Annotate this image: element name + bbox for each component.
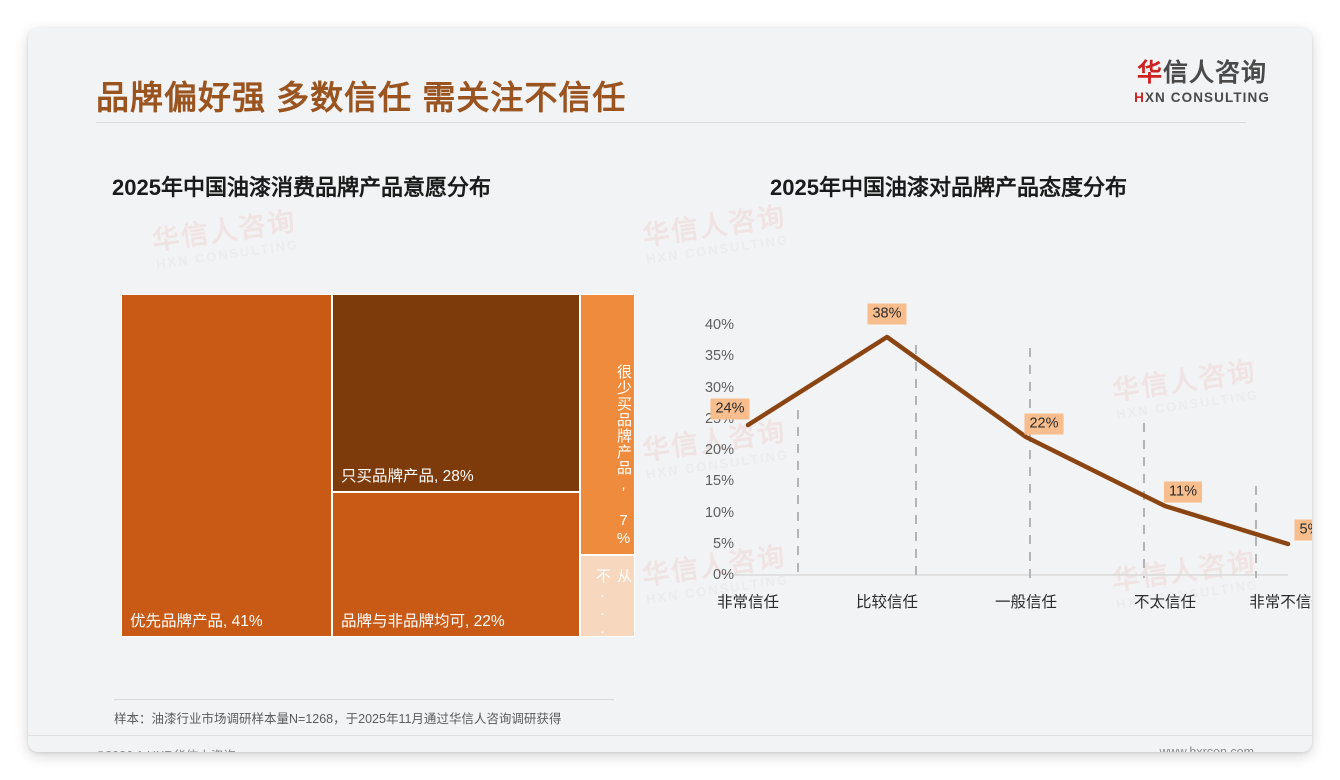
- watermark-cn: 华信人咨询: [151, 208, 298, 255]
- y-axis-tick-label: 5%: [713, 536, 734, 552]
- y-axis: 0%5%10%15%20%25%30%35%40%: [676, 290, 734, 620]
- treemap-label: 品牌与非品牌均可, 22%: [341, 609, 505, 631]
- data-point-label: 22%: [1024, 413, 1063, 434]
- watermark: 华信人咨询 HXN CONSULTING: [151, 208, 301, 271]
- logo-english-text: HXN CONSULTING: [1134, 91, 1270, 105]
- header-divider: [96, 122, 1246, 123]
- treemap-tile-either[interactable]: 品牌与非品牌均可, 22%: [332, 492, 580, 637]
- y-axis-tick-label: 15%: [705, 473, 734, 489]
- x-axis-tick-label: 非常信任: [717, 590, 779, 612]
- treemap-label: 很少买品牌产品, 7%: [581, 298, 634, 548]
- footnote-text: 样本：油漆行业市场调研样本量N=1268，于2025年11月通过华信人咨询调研获…: [114, 708, 561, 727]
- right-chart-title: 2025年中国油漆对品牌产品态度分布: [770, 170, 1127, 202]
- treemap-tile-only-brand[interactable]: 只买品牌产品, 28%: [332, 294, 580, 492]
- treemap-tile-priority-brand[interactable]: 优先品牌产品, 41%: [121, 294, 332, 637]
- x-axis-tick-label: 一般信任: [995, 590, 1057, 612]
- y-axis-tick-label: 35%: [705, 348, 734, 364]
- y-axis-tick-label: 30%: [705, 380, 734, 396]
- company-logo: 华信人咨询 HXN CONSULTING: [1134, 61, 1270, 105]
- logo-rest-chars: 信人咨询: [1163, 59, 1267, 87]
- logo-en-accent: H: [1134, 90, 1145, 105]
- treemap-chart: 优先品牌产品, 41% 只买品牌产品, 28% 品牌与非品牌均可, 22% 很少…: [121, 294, 635, 637]
- treemap-label: 优先品牌产品, 41%: [130, 609, 263, 631]
- y-axis-tick-label: 0%: [713, 567, 734, 583]
- left-chart-title: 2025年中国油漆消费品牌产品意愿分布: [112, 170, 491, 202]
- footer-divider: [28, 735, 1312, 736]
- logo-chinese-text: 华信人咨询: [1134, 61, 1270, 86]
- treemap-tile-never-brand[interactable]: 从不...: [580, 555, 635, 637]
- website-text: www.hxrcon.com: [1160, 745, 1254, 752]
- logo-en-rest: XN CONSULTING: [1145, 90, 1270, 105]
- treemap-label: 只买品牌产品, 28%: [341, 464, 474, 486]
- data-point-label: 11%: [1164, 482, 1202, 503]
- treemap-label: 从不...: [581, 568, 634, 628]
- y-axis-tick-label: 10%: [705, 505, 734, 521]
- logo-accent-char: 华: [1137, 59, 1163, 87]
- y-axis-tick-label: 20%: [705, 442, 734, 458]
- copyright-text: ©2026.1 HXR华信人咨询: [96, 745, 236, 752]
- data-point-label: 38%: [867, 303, 906, 324]
- attitude-line-series: [748, 337, 1288, 544]
- x-axis-tick-label: 比较信任: [856, 590, 918, 612]
- x-axis-tick-label: 非常不信任: [1249, 590, 1312, 612]
- line-chart: 0%5%10%15%20%25%30%35%40% 非常信任比较信任一般信任不太…: [676, 290, 1296, 620]
- watermark-en: HXN CONSULTING: [645, 233, 790, 266]
- slide-canvas: 华信人咨询 HXN CONSULTING 华信人咨询 HXN CONSULTIN…: [28, 28, 1312, 752]
- footnote-divider: [114, 699, 614, 700]
- watermark-cn: 华信人咨询: [641, 203, 788, 250]
- data-point-label: 5%: [1295, 519, 1312, 540]
- x-axis-tick-label: 不太信任: [1134, 590, 1196, 612]
- page-title: 品牌偏好强 多数信任 需关注不信任: [96, 71, 626, 119]
- line-chart-svg: [676, 290, 1296, 620]
- watermark-en: HXN CONSULTING: [155, 238, 300, 271]
- data-point-label: 24%: [710, 399, 749, 420]
- y-axis-tick-label: 40%: [705, 317, 734, 333]
- watermark: 华信人咨询 HXN CONSULTING: [641, 203, 791, 266]
- treemap-tile-rarely-brand[interactable]: 很少买品牌产品, 7%: [580, 294, 635, 555]
